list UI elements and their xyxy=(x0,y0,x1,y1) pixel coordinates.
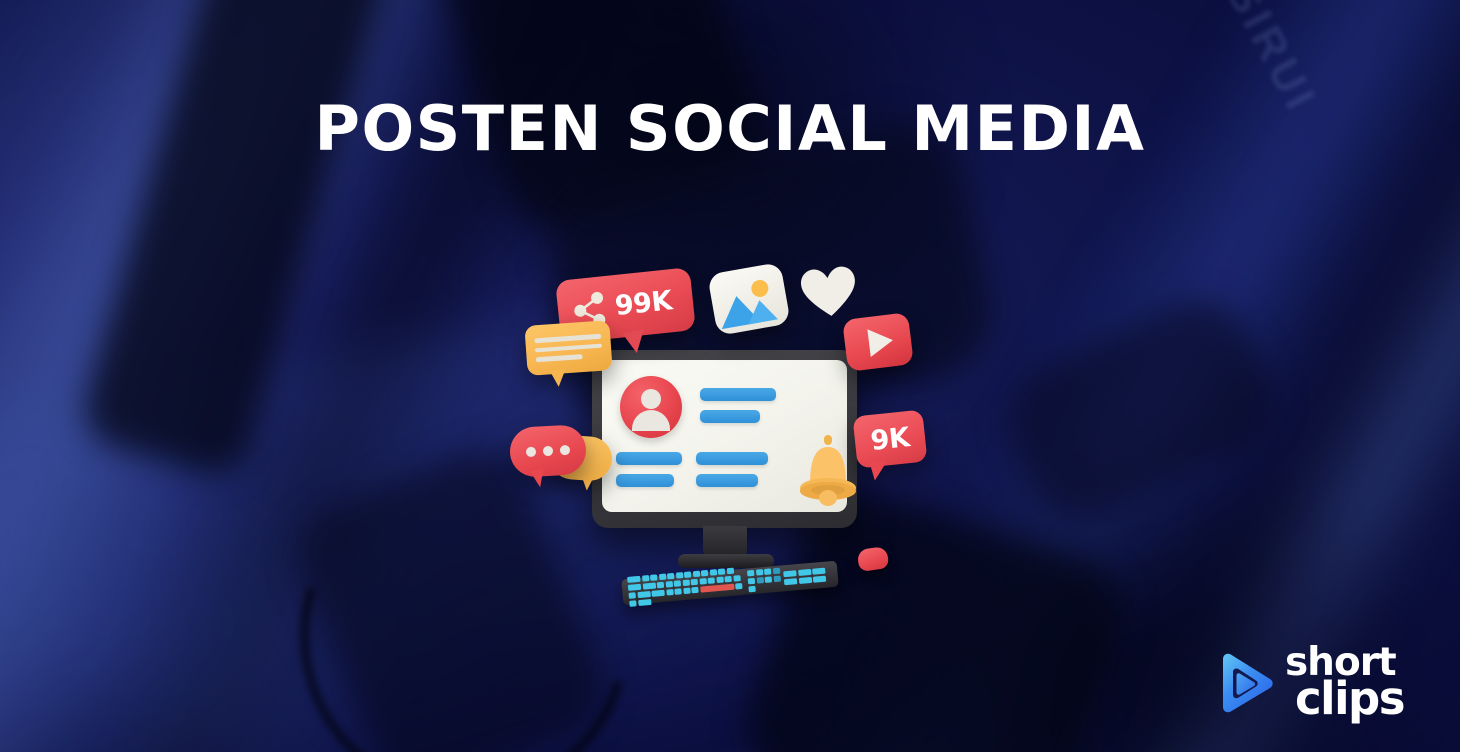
play-button-icon xyxy=(842,312,914,372)
computer-mouse xyxy=(857,546,890,572)
play-button-logo-icon xyxy=(1215,652,1275,714)
brand-logo-text: short clips xyxy=(1285,647,1404,718)
bubble-line xyxy=(535,343,602,352)
views-count-label: 9K xyxy=(869,422,911,457)
notification-bell-icon xyxy=(798,433,858,509)
image-icon xyxy=(707,262,791,336)
monitor-base xyxy=(678,554,774,568)
screen-text-bar xyxy=(616,474,674,487)
share-count-label: 99K xyxy=(613,285,673,322)
screen-text-bar xyxy=(696,452,768,465)
views-count-badge: 9K xyxy=(852,409,927,468)
avatar-head-shape xyxy=(641,389,661,409)
screen-text-bar xyxy=(696,474,758,487)
social-media-illustration: 99K xyxy=(500,258,970,608)
bubble-line xyxy=(534,334,601,343)
screen-text-bar xyxy=(700,410,760,423)
heart-icon xyxy=(797,263,860,321)
page-title: POSTEN SOCIAL MEDIA xyxy=(0,92,1460,165)
chat-dot xyxy=(560,445,571,456)
slide-canvas: SIRUI POSTEN SOCIAL MEDIA xyxy=(0,0,1460,752)
chat-dot xyxy=(526,447,537,458)
chat-dot xyxy=(543,446,554,457)
chat-bubble-red xyxy=(509,424,588,478)
brand-logo-line2: clips xyxy=(1295,680,1404,718)
screen-text-bar xyxy=(616,452,682,465)
screen-text-bar xyxy=(700,388,776,401)
bubble-line xyxy=(536,354,583,362)
brand-logo[interactable]: short clips xyxy=(1215,647,1404,718)
comment-lines-bubble xyxy=(524,320,612,376)
keyboard xyxy=(621,561,838,606)
image-mountain-shape xyxy=(745,298,778,325)
play-triangle-shape xyxy=(867,326,894,357)
